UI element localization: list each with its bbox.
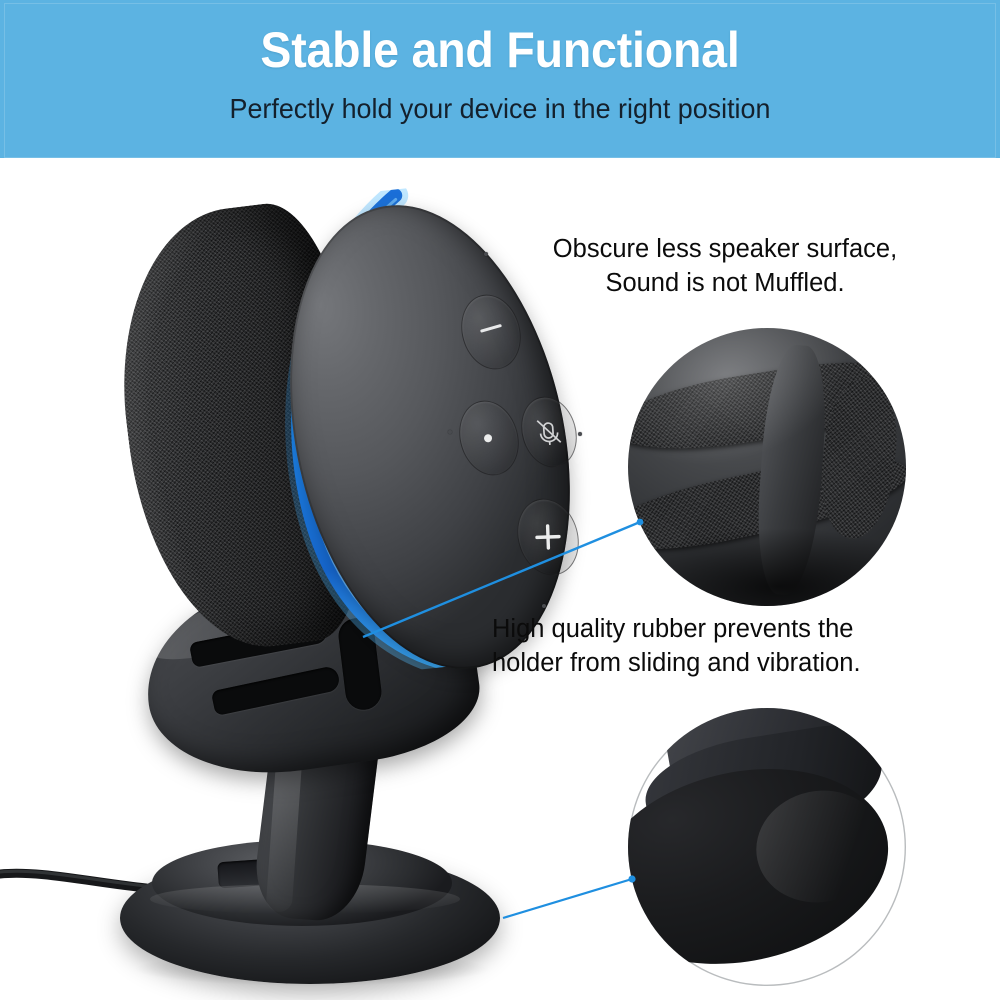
leader-line-speaker-surface [363,522,640,637]
leader-endpoint-dot [628,875,635,882]
leader-line-rubber-base [503,879,632,918]
product-feature-image: Stable and Functional Perfectly hold you… [0,0,1000,1000]
leader-endpoint-dot [637,519,644,526]
leader-lines [0,0,1000,1000]
